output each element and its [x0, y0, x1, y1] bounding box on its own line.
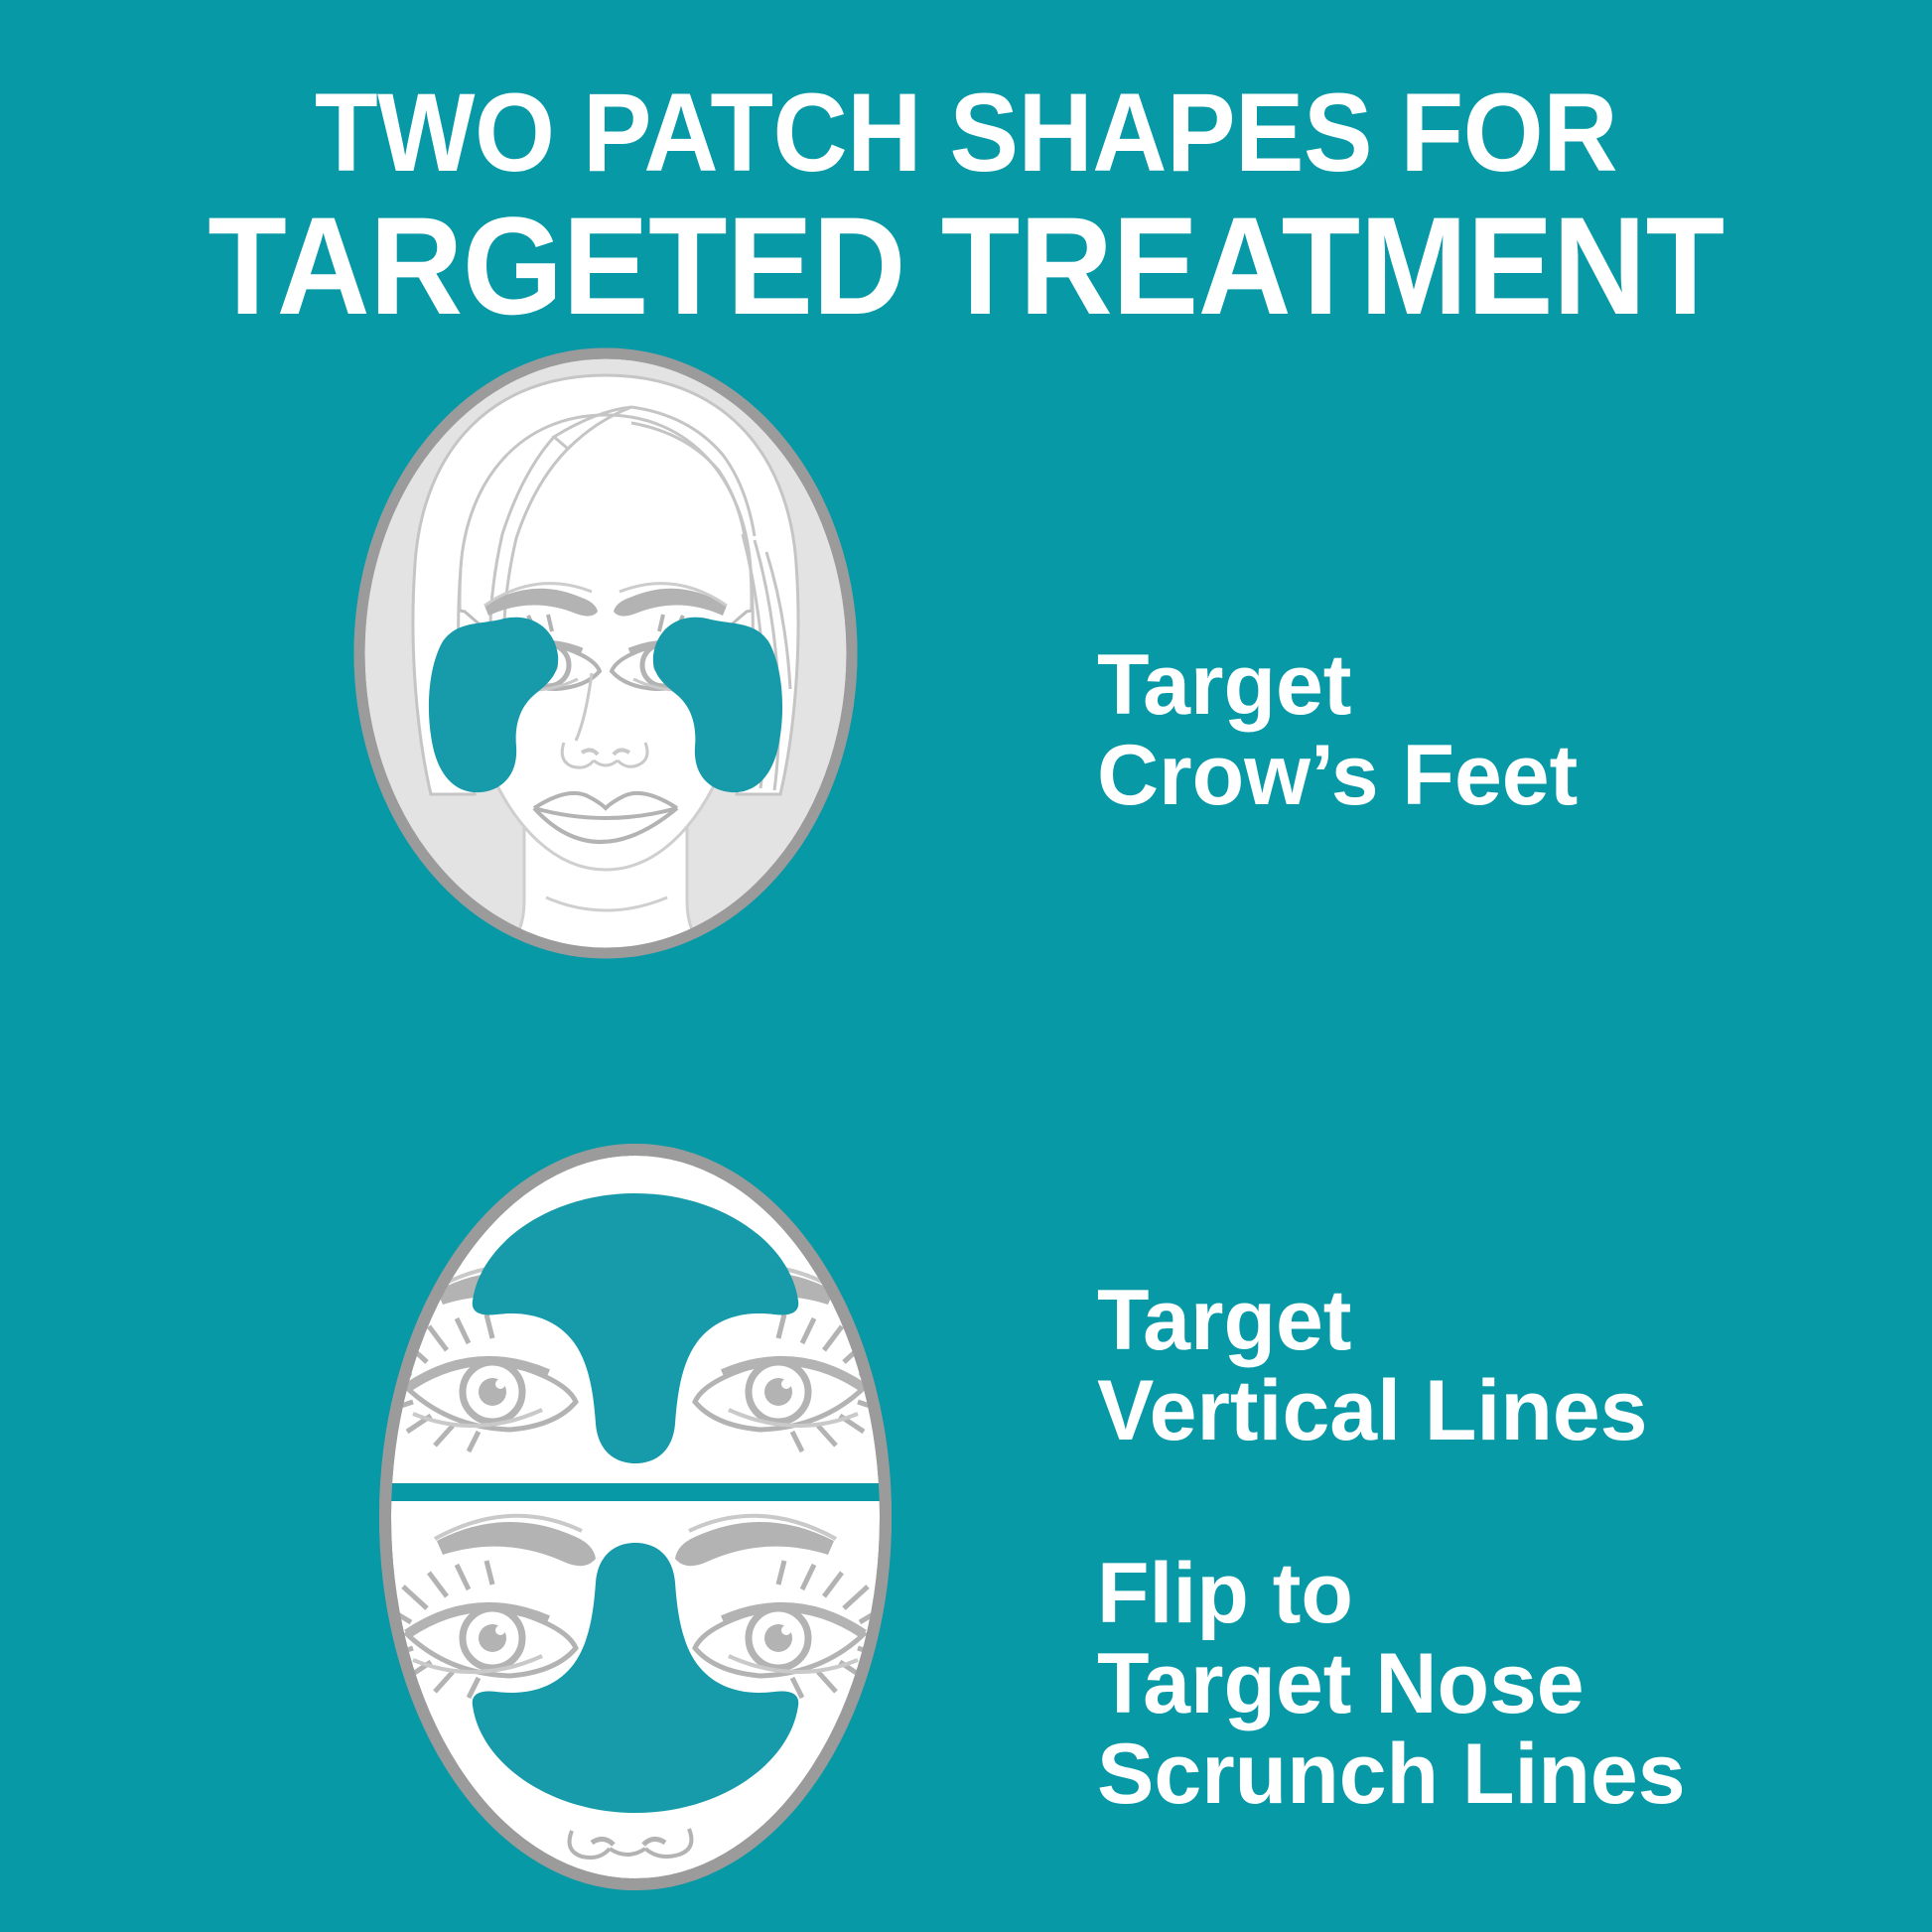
caption-crows-feet: Target Crow’s Feet [1097, 640, 1578, 821]
illustration-crows-feet [298, 345, 913, 961]
infographic-page: TWO PATCH SHAPES FOR TARGETED TREATMENT [0, 0, 1932, 1932]
caption-nose-scrunch: Flip to Target Nose Scrunch Lines [1097, 1549, 1686, 1820]
page-title: TWO PATCH SHAPES FOR TARGETED TREATMENT [0, 77, 1932, 336]
caption-vertical-lines: Target Vertical Lines [1097, 1276, 1648, 1456]
illustration-vertical-and-nose [328, 1140, 943, 1894]
title-line-2: TARGETED TREATMENT [68, 197, 1864, 336]
title-line-1: TWO PATCH SHAPES FOR [68, 77, 1864, 189]
split-divider [328, 1483, 943, 1501]
